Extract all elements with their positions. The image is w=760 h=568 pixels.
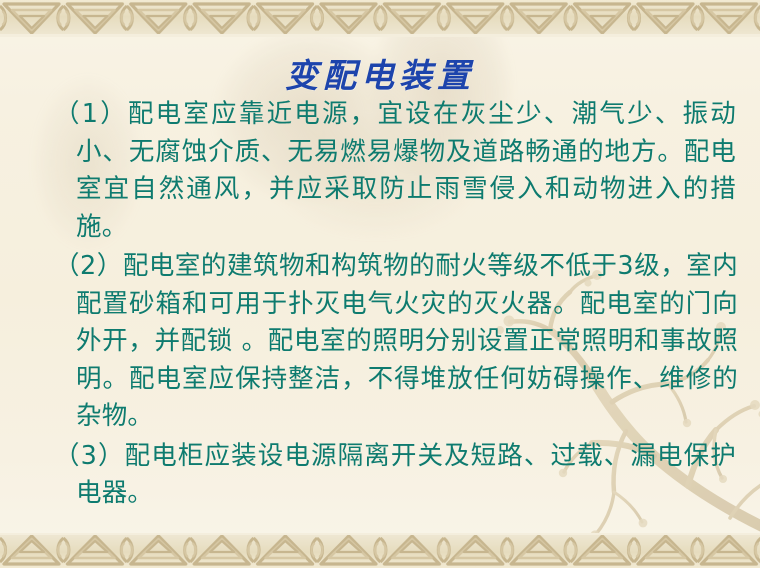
body-paragraph-3: （3）配电柜应装设电源隔离开关及短路、过载、漏电保护电器。 <box>54 438 736 513</box>
slide-title: 变配电装置 <box>0 49 760 97</box>
presentation-slide: 变配电装置 （1）配电室应靠近电源，宜设在灰尘少、潮气少、振动小、无腐蚀介质、无… <box>0 0 760 568</box>
body-paragraph-2: （2）配电室的建筑物和构筑物的耐火等级不低于3级，室内配置砂箱和可用于扑灭电气火… <box>54 248 738 436</box>
bottom-decorative-border <box>0 533 760 568</box>
body-paragraph-1: （1）配电室应靠近电源，宜设在灰尘少、潮气少、振动小、无腐蚀介质、无易燃易爆物及… <box>54 96 736 246</box>
top-decorative-border <box>0 0 760 37</box>
slide-body-text: （1）配电室应靠近电源，宜设在灰尘少、潮气少、振动小、无腐蚀介质、无易燃易爆物及… <box>54 96 716 513</box>
slide-content-area: 变配电装置 （1）配电室应靠近电源，宜设在灰尘少、潮气少、振动小、无腐蚀介质、无… <box>0 37 760 533</box>
